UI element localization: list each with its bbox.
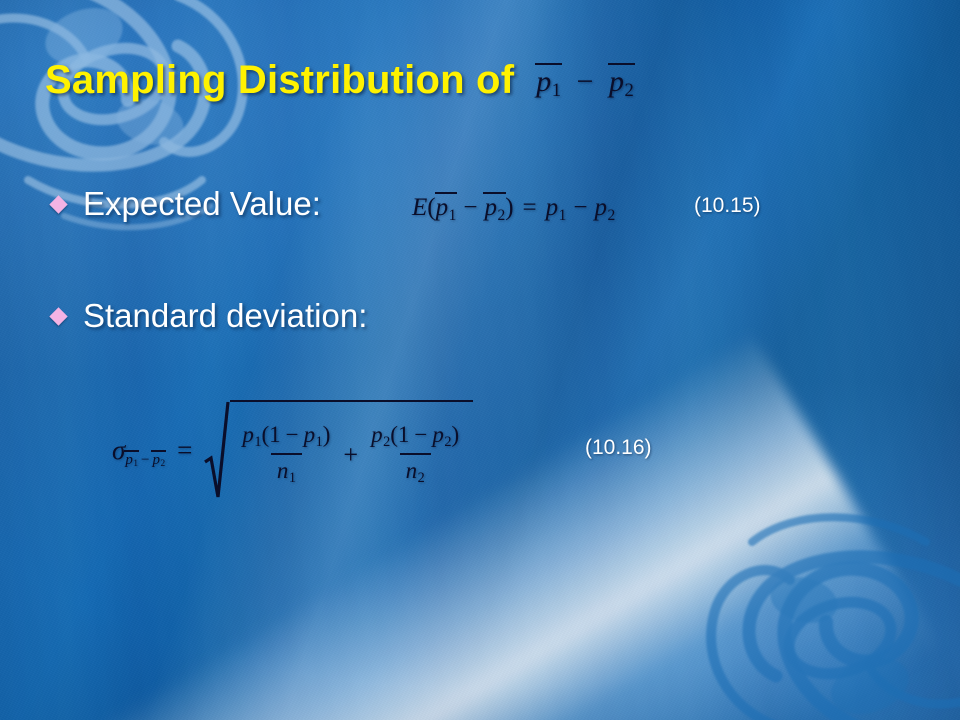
sigma-sub-right-var: p <box>152 452 160 468</box>
ev-arg-operator: − <box>463 194 477 221</box>
radicand: p1(1−p1) n1 + p2(1−p2) n2 <box>230 400 473 500</box>
equation-number-10-16: (10.16) <box>585 436 652 460</box>
ev-arg-left-sub: 1 <box>449 207 457 224</box>
sigma-sub-left-var: p <box>125 452 133 468</box>
t2-num-close: ) <box>452 422 460 447</box>
ev-arg-left-var: p <box>436 194 449 221</box>
t2-num-one: 1 <box>398 422 410 447</box>
title-formula-right-var: p <box>609 65 624 98</box>
bullet-label-standard-deviation: Standard deviation: <box>83 297 367 335</box>
t1-num-minus: − <box>286 422 299 447</box>
title-formula-right-sub: 2 <box>624 80 633 101</box>
title-formula-operator: − <box>577 65 594 98</box>
ev-arg-right-var: p <box>484 194 497 221</box>
sigma-term: σ p1−p2 <box>112 435 165 466</box>
ev-function: E <box>412 194 427 221</box>
square-root-expression: p1(1−p1) n1 + p2(1−p2) n2 <box>204 400 473 500</box>
ev-rhs-right-sub: 2 <box>608 207 616 224</box>
t1-den-var: n <box>277 458 289 483</box>
sigma-sub-operator: − <box>141 452 149 468</box>
sigma-glyph: σ <box>112 435 125 466</box>
presentation-slide: Sampling Distribution of p1 − p2 Expecte… <box>0 0 960 720</box>
term1-numerator: p1(1−p1) <box>236 422 336 453</box>
sigma-sub-right-sub: 2 <box>160 459 165 469</box>
title-formula-left-sub: 1 <box>552 80 561 101</box>
t2-num-sub2: 2 <box>444 434 451 450</box>
t2-num-minus: − <box>414 422 427 447</box>
ev-rhs-left-var: p <box>546 194 559 221</box>
t2-num-var: p <box>371 422 383 447</box>
t1-den-sub: 1 <box>289 470 296 486</box>
t1-num-close: ) <box>323 422 331 447</box>
sigma-subscript: p1−p2 <box>125 450 165 470</box>
sigma-sub-left-sub: 1 <box>133 459 138 469</box>
term2-numerator: p2(1−p2) <box>365 422 465 453</box>
t2-num-var2: p <box>432 422 444 447</box>
t2-num-open: ( <box>390 422 398 447</box>
t1-num-open: ( <box>261 422 269 447</box>
sd-equals: = <box>177 435 192 466</box>
slide-title: Sampling Distribution of p1 − p2 <box>45 58 634 103</box>
term2-denominator: n2 <box>400 453 431 487</box>
ev-open-paren: ( <box>427 194 435 221</box>
diamond-bullet-icon <box>49 195 67 213</box>
equation-number-10-15: (10.15) <box>694 194 761 218</box>
t2-den-sub: 2 <box>418 470 425 486</box>
background-vignette <box>0 0 960 720</box>
title-formula: p1 − p2 <box>536 63 634 103</box>
t1-num-one: 1 <box>269 422 281 447</box>
bullet-label-expected-value: Expected Value: <box>83 185 321 223</box>
ev-close-paren: ) <box>505 194 513 221</box>
radical-sign-icon <box>204 400 230 500</box>
ev-equals: = <box>523 194 537 221</box>
diamond-bullet-icon <box>49 307 67 325</box>
title-formula-left-var: p <box>536 65 551 98</box>
fraction-term-1: p1(1−p1) n1 <box>236 422 336 488</box>
ev-rhs-left-sub: 1 <box>559 207 567 224</box>
ev-arg-right-sub: 2 <box>497 207 505 224</box>
term1-denominator: n1 <box>271 453 302 487</box>
t1-num-sub2: 1 <box>316 434 323 450</box>
t1-num-var2: p <box>304 422 316 447</box>
bullet-item-expected-value: Expected Value: <box>52 185 321 223</box>
fraction-term-2: p2(1−p2) n2 <box>365 422 465 488</box>
t1-num-var: p <box>242 422 254 447</box>
page-title: Sampling Distribution of <box>45 58 514 103</box>
bullet-item-standard-deviation: Standard deviation: <box>52 297 367 335</box>
standard-deviation-formula: σ p1−p2 = p1(1−p1) n1 + p2(1−p2) <box>112 400 473 500</box>
t2-den-var: n <box>406 458 418 483</box>
ev-rhs-operator: − <box>573 194 587 221</box>
ev-rhs-right-var: p <box>595 194 608 221</box>
sd-plus-operator: + <box>343 440 358 470</box>
expected-value-formula: E(p1−p2)=p1−p2 <box>412 192 615 225</box>
